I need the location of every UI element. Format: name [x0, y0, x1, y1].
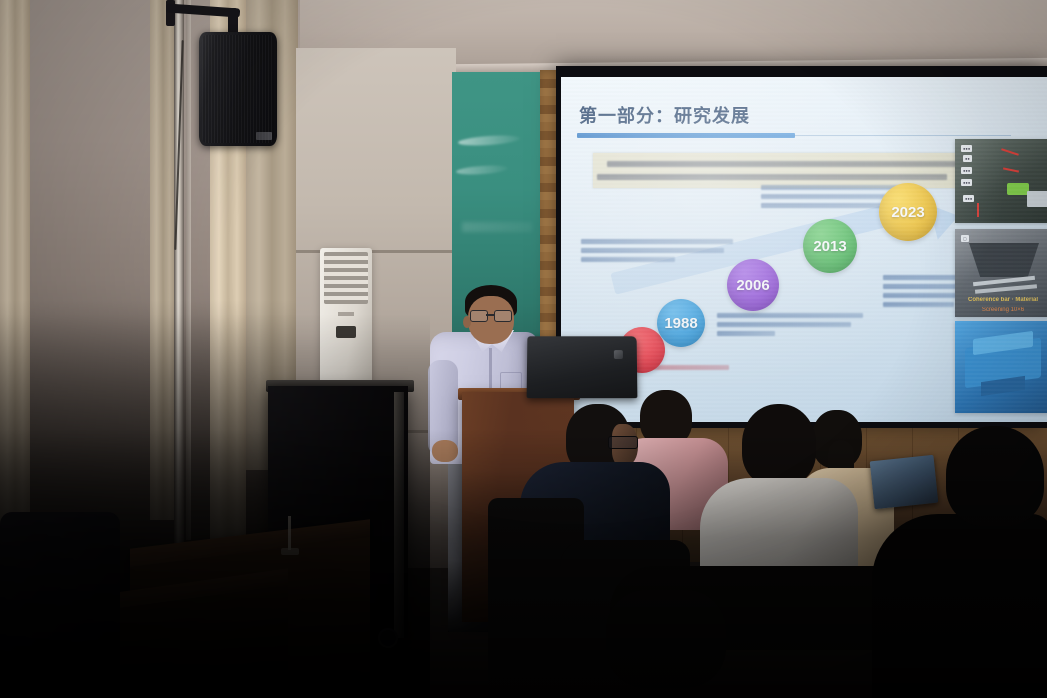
air-conditioner-vent — [324, 252, 368, 304]
panel-text-blur — [462, 222, 532, 232]
slide-photo-2: ▢ Coherence bar · Material Screening 10×… — [955, 229, 1047, 317]
presenter-laptop — [527, 336, 638, 398]
slide-note-line-2 — [597, 174, 947, 180]
timeline-bubble-2006: 2006 — [727, 259, 779, 311]
glasses-bridge — [486, 314, 494, 316]
slide-annotation-2006 — [717, 313, 863, 340]
timeline-bubble-2013: 2013 — [803, 219, 857, 273]
audience-body — [872, 514, 1047, 698]
audience-head — [742, 404, 816, 486]
slide-annotation-1988 — [581, 239, 733, 266]
audience-laptop — [870, 455, 939, 509]
slide-photo-1: ●●● ●● ●●● ●●● ●●● — [955, 139, 1047, 223]
slide-photo-2-subcaption: Screening 10×6 — [955, 307, 1047, 313]
cabinet-rail — [394, 392, 404, 638]
cabinet-caster — [378, 628, 398, 648]
conference-chair — [0, 512, 120, 698]
presentation-room-photo: 第一部分：研究发展 1988 2006 2013 2023 ●●● — [0, 0, 1047, 698]
slide-title: 第一部分：研究发展 — [579, 102, 750, 128]
loudspeaker-icon — [199, 32, 277, 146]
air-conditioner-logo — [338, 312, 354, 316]
timeline-bubble-1988: 1988 — [657, 299, 705, 347]
slide-accent-bar — [577, 133, 795, 138]
speaker-grille — [202, 35, 274, 143]
desk-microphone — [288, 516, 291, 550]
audience-forearm — [606, 590, 726, 688]
audience-head — [946, 426, 1044, 526]
slide-accent-line — [795, 135, 1011, 136]
slide-photo-3 — [955, 321, 1047, 413]
slide-photo-2-caption: Coherence bar · Material — [955, 297, 1047, 303]
microphone-base — [281, 548, 299, 555]
slide-note-line-1 — [607, 161, 959, 167]
glasses-icon — [608, 436, 638, 449]
laptop-logo — [614, 350, 623, 359]
presenter-hand — [432, 440, 458, 462]
air-conditioner-display — [336, 326, 356, 338]
timeline-bubble-2023: 2023 — [879, 183, 937, 241]
